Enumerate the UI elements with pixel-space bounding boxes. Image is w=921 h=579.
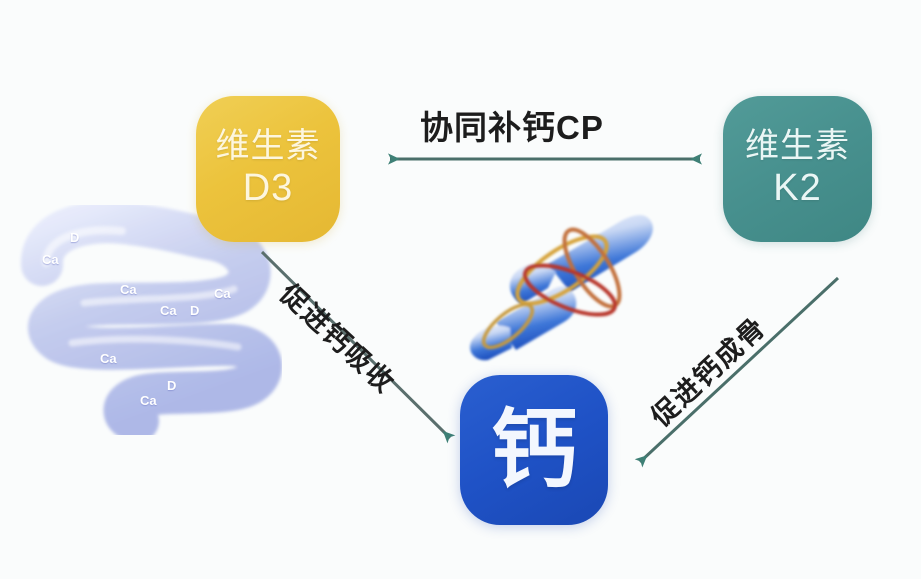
- node-vitamin-d3-line2: D3: [243, 169, 294, 209]
- node-vitamin-d3[interactable]: 维生素 D3: [196, 96, 340, 242]
- node-vitamin-k2[interactable]: 维生素 K2: [723, 96, 872, 242]
- node-calcium-label: 钙: [491, 407, 577, 493]
- node-calcium[interactable]: 钙: [460, 375, 608, 525]
- edge-label-absorption: 促进钙吸收: [273, 273, 406, 400]
- node-vitamin-k2-line2: K2: [773, 169, 821, 209]
- bone-joint-illustration: [452, 198, 677, 373]
- node-vitamin-d3-line1: 维生素: [216, 129, 321, 165]
- diagram-canvas: D Ca Ca Ca Ca D Ca D Ca: [0, 0, 921, 579]
- bone-svg: [452, 198, 677, 373]
- node-vitamin-k2-line1: 维生素: [745, 129, 850, 165]
- edge-label-synergy: 协同补钙CP: [420, 101, 604, 149]
